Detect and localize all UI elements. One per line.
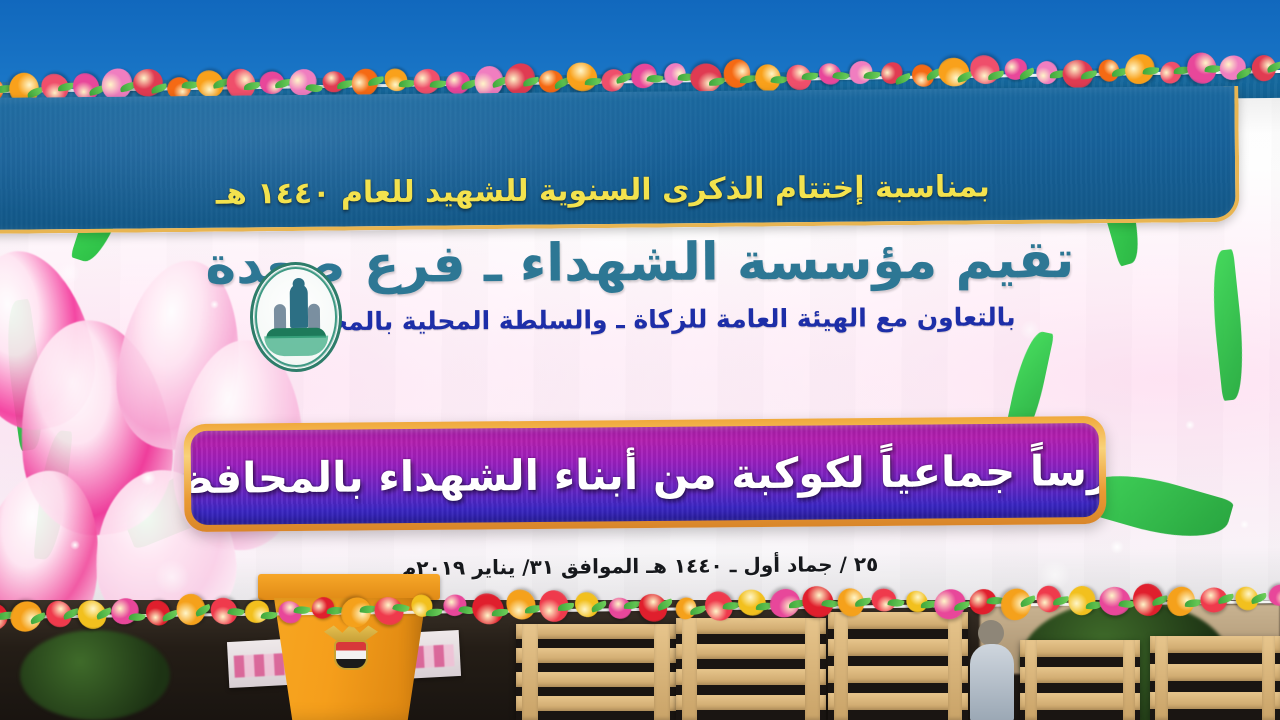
bush-left	[20, 630, 170, 720]
pallet-post	[1123, 640, 1135, 720]
pallet-slat	[676, 695, 826, 711]
wooden-pallet	[1020, 640, 1140, 720]
pallet-post	[805, 618, 820, 720]
pallet-slat	[676, 644, 826, 660]
pallet-slat	[828, 693, 968, 710]
yemen-flag-shield-icon	[336, 642, 366, 668]
pallet-post	[1025, 640, 1037, 720]
main-announcement-text: عرساً جماعياً لكوكبة من أبناء الشهداء با…	[191, 445, 1100, 503]
pallet-post	[522, 624, 538, 720]
speaker-podium	[264, 574, 434, 720]
pallet-slat	[1150, 636, 1280, 653]
wooden-pallet	[828, 612, 968, 720]
shahid-foundation-emblem	[249, 262, 342, 373]
pallet-slat	[1020, 693, 1140, 710]
emblem-figure-child-right	[308, 304, 320, 330]
pallet-post	[654, 624, 670, 720]
main-announcement-banner: عرساً جماعياً لكوكبة من أبناء الشهداء با…	[191, 423, 1100, 525]
podium-top-surface	[258, 574, 440, 600]
pallet-slat	[1020, 667, 1140, 684]
pallet-post	[834, 612, 848, 720]
emblem-figure-child-left	[274, 304, 286, 330]
pallet-slat	[1020, 640, 1140, 657]
pallet-slat	[516, 624, 676, 639]
main-announcement-frame: عرساً جماعياً لكوكبة من أبناء الشهداء با…	[184, 416, 1107, 532]
wooden-pallet	[676, 618, 826, 720]
event-photo-scene: بمناسبة إختتام الذكرى السنوية للشهيد للع…	[0, 0, 1280, 720]
banner-top-band: بمناسبة إختتام الذكرى السنوية للشهيد للع…	[0, 86, 1240, 234]
pallet-slat	[828, 639, 968, 656]
pallet-post	[1155, 636, 1168, 720]
organization-title: تقيم مؤسسة الشهداء ـ فرع صعدة	[0, 232, 1280, 296]
pallet-slat	[516, 648, 676, 663]
pallet-post	[682, 618, 697, 720]
person-standing	[968, 620, 1020, 720]
person-body	[970, 644, 1014, 720]
pallet-slat	[676, 669, 826, 685]
emblem-figure-mother	[290, 284, 308, 328]
pallet-slat	[828, 666, 968, 683]
person-head	[978, 620, 1004, 646]
pallet-slat	[828, 612, 968, 629]
pallet-slat	[516, 672, 676, 687]
pallet-slat	[676, 618, 826, 634]
wooden-pallet	[1150, 636, 1280, 720]
pallet-slat	[1150, 692, 1280, 709]
pallet-post	[948, 612, 962, 720]
pallet-slat	[1150, 664, 1280, 681]
yemen-golden-eagle-emblem	[320, 622, 382, 674]
emblem-figure-head	[293, 278, 305, 290]
pallet-post	[1262, 636, 1275, 720]
wooden-pallet	[516, 624, 676, 720]
banner-headline-block: تقيم مؤسسة الشهداء ـ فرع صعدة بالتعاون م…	[0, 232, 1280, 339]
pallet-slat	[516, 696, 676, 711]
